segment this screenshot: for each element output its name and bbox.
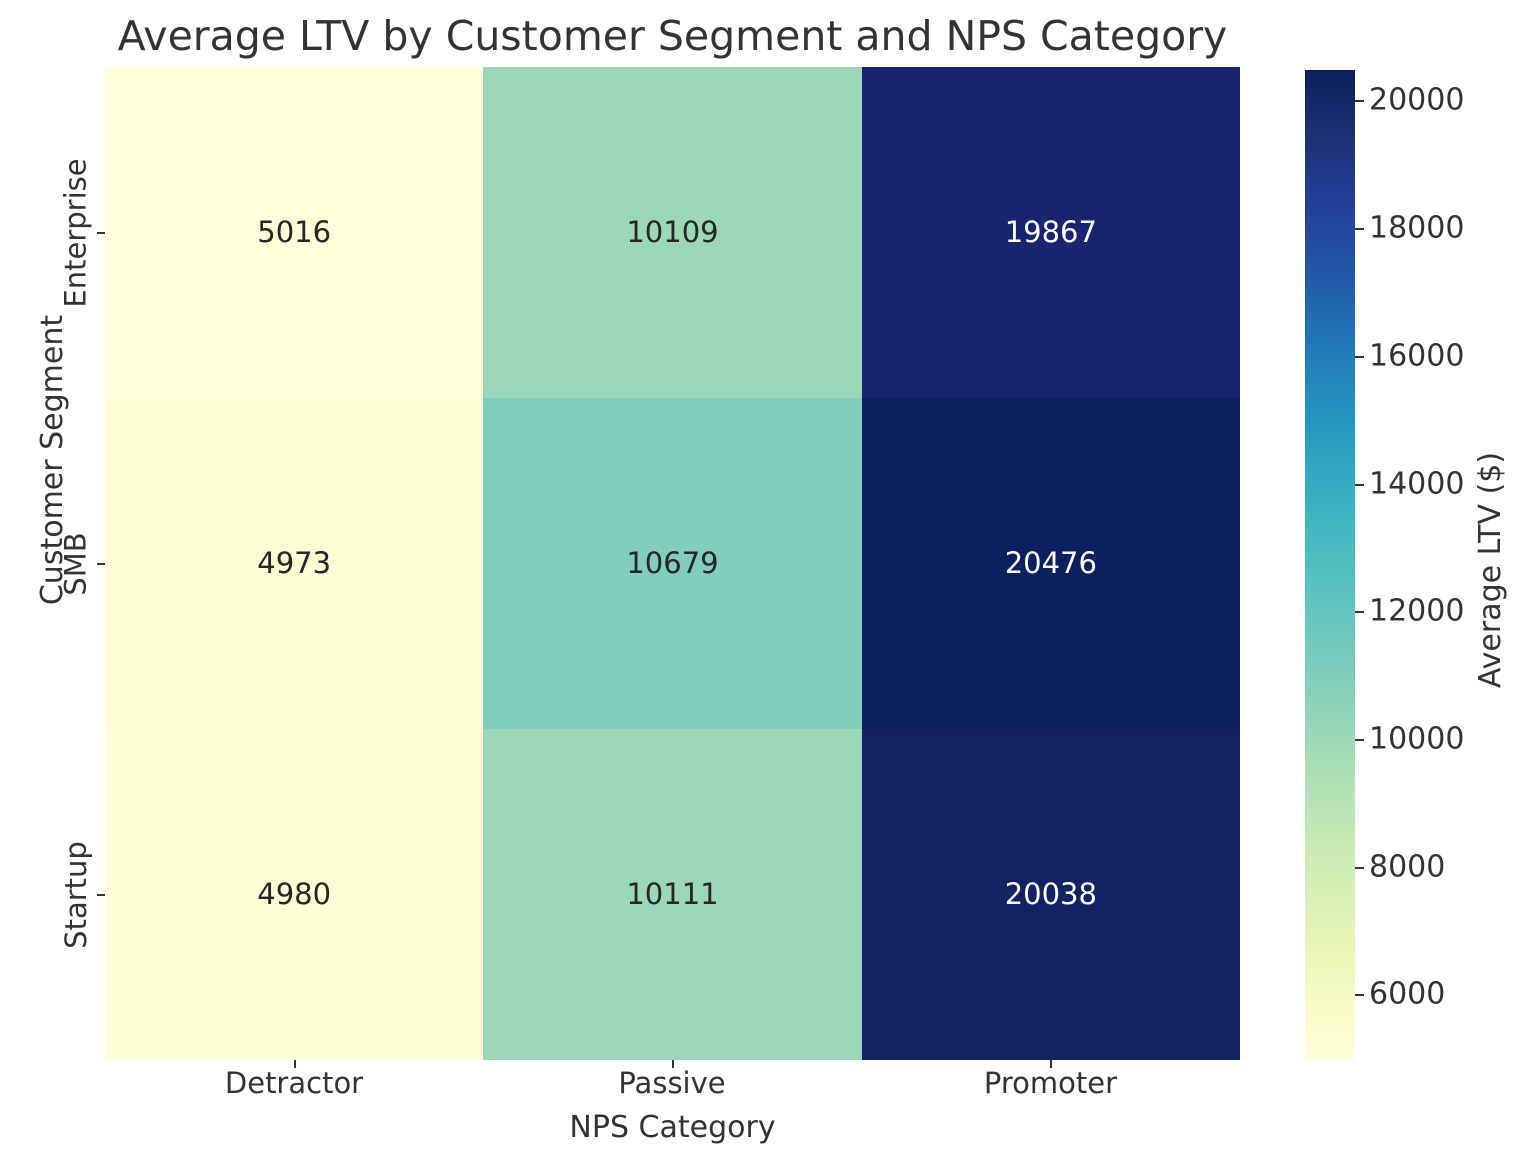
colorbar-tick-mark: [1355, 100, 1364, 102]
heatmap-cell: 10679: [483, 398, 861, 729]
colorbar-tick-label: 14000: [1369, 466, 1464, 501]
heatmap-cell: 20476: [862, 398, 1240, 729]
colorbar-tick-label: 8000: [1369, 849, 1445, 884]
colorbar-tick-mark: [1355, 994, 1364, 996]
x-axis-label: NPS Category: [105, 1110, 1240, 1150]
y-tick-label-startup: Startup: [56, 729, 96, 1060]
colorbar-tick-label: 10000: [1369, 721, 1464, 756]
chart-title: Average LTV by Customer Segment and NPS …: [105, 8, 1240, 64]
colorbar-gradient: [1305, 70, 1355, 1060]
colorbar-tick-mark: [1355, 611, 1364, 613]
heatmap-cell: 4973: [105, 398, 483, 729]
y-tick-mark: [97, 232, 105, 234]
colorbar-tick-mark: [1355, 228, 1364, 230]
colorbar-label: Average LTV ($): [1468, 350, 1512, 790]
heatmap-cell: 10109: [483, 67, 861, 398]
colorbar-tick-label: 6000: [1369, 977, 1445, 1012]
colorbar-tick-mark: [1355, 484, 1364, 486]
colorbar-tick-mark: [1355, 356, 1364, 358]
x-tick-label-promoter: Promoter: [861, 1066, 1240, 1108]
colorbar-tick-mark: [1355, 739, 1364, 741]
y-tick-mark: [97, 894, 105, 896]
heatmap-plot-area: 5016 10109 19867 4973 10679 20476 4980 1…: [105, 67, 1240, 1060]
heatmap-cell: 5016: [105, 67, 483, 398]
heatmap-cell: 4980: [105, 729, 483, 1060]
heatmap-cell: 10111: [483, 729, 861, 1060]
colorbar-label-wrap: Average LTV ($): [1468, 350, 1512, 790]
colorbar-tick-label: 20000: [1369, 83, 1464, 118]
heatmap-figure: Average LTV by Customer Segment and NPS …: [0, 0, 1536, 1166]
colorbar-tick-label: 16000: [1369, 338, 1464, 373]
colorbar-tick-label: 12000: [1369, 594, 1464, 629]
colorbar-tick-label: 18000: [1369, 211, 1464, 246]
colorbar-tick-mark: [1355, 867, 1364, 869]
x-tick-label-detractor: Detractor: [105, 1066, 483, 1108]
y-axis-label: Customer Segment: [30, 260, 74, 660]
heatmap-cell: 19867: [862, 67, 1240, 398]
heatmap-cell: 20038: [862, 729, 1240, 1060]
x-tick-label-passive: Passive: [483, 1066, 861, 1108]
y-tick-mark: [97, 563, 105, 565]
